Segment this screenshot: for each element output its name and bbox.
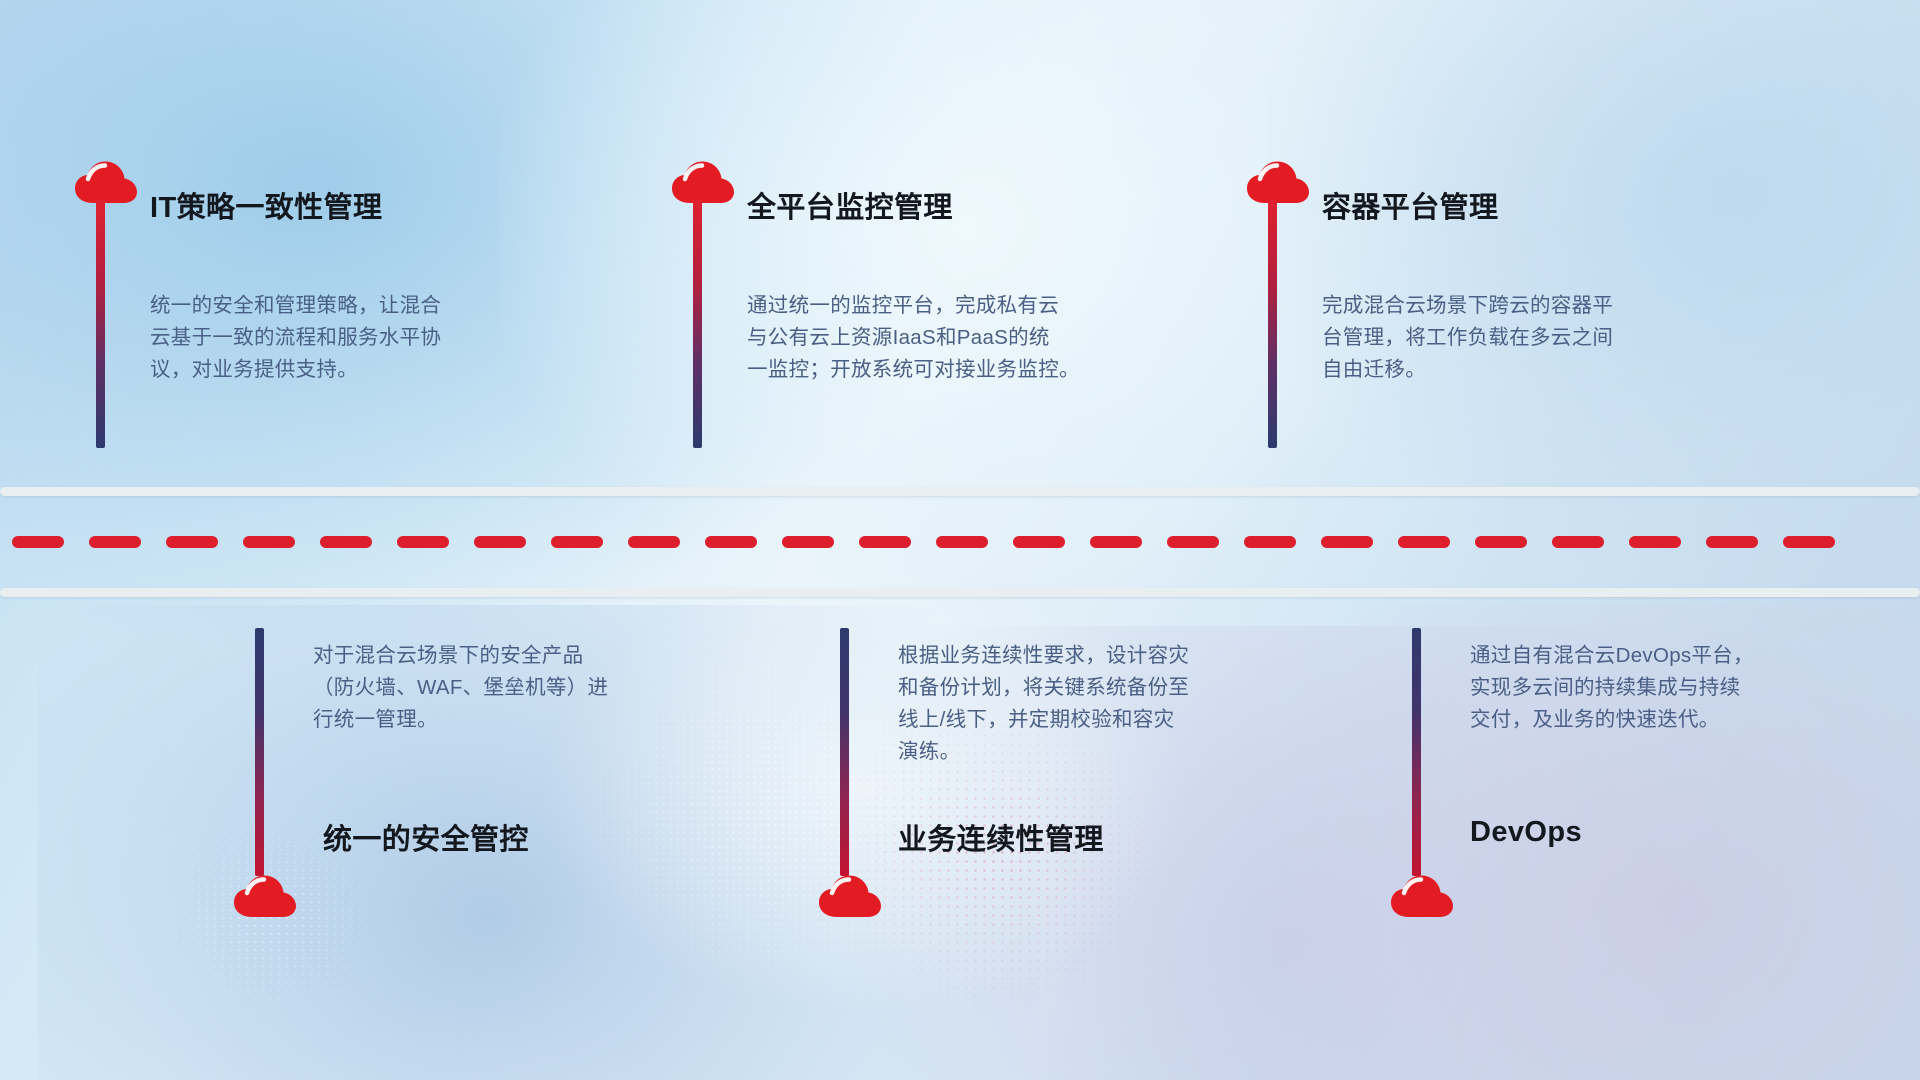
road-dash-segment xyxy=(1783,536,1835,548)
cloud-pin-unified-security-control xyxy=(232,874,294,918)
stem-container-platform-management xyxy=(1268,200,1277,448)
road-dash-segment xyxy=(936,536,988,548)
cloud-pin-devops xyxy=(1389,874,1451,918)
card-body: 根据业务连续性要求，设计容灾 和备份计划，将关键系统备份至 线上/线下，并定期校… xyxy=(898,640,1308,768)
card-title: IT策略一致性管理 xyxy=(150,184,382,226)
road-dash-segment xyxy=(1475,536,1527,548)
road-line-top xyxy=(0,487,1920,496)
card-body: 统一的安全和管理策略，让混合 云基于一致的流程和服务水平协 议，对业务提供支持。 xyxy=(150,290,570,386)
road-dash-segment xyxy=(1706,536,1758,548)
card-title: 全平台监控管理 xyxy=(747,184,953,226)
road-divider xyxy=(0,487,1920,597)
cloud-pin-icon xyxy=(670,160,736,204)
card-title: 容器平台管理 xyxy=(1322,184,1498,226)
road-dash-segment xyxy=(551,536,603,548)
road-dash-segment xyxy=(1398,536,1450,548)
cloud-pin-icon xyxy=(1245,160,1311,204)
card-body: 通过自有混合云DevOps平台， 实现多云间的持续集成与持续 交付，及业务的快速… xyxy=(1470,640,1870,736)
cloud-pin-icon xyxy=(1389,874,1455,918)
road-dash-segment xyxy=(628,536,680,548)
cloud-pin-icon xyxy=(73,160,139,204)
road-dash-segment xyxy=(705,536,757,548)
cloud-pin-icon xyxy=(817,874,883,918)
cloud-pin-full-platform-monitoring xyxy=(670,160,732,204)
stem-devops xyxy=(1412,628,1421,876)
road-dash-segment xyxy=(1244,536,1296,548)
road-dash-segment xyxy=(782,536,834,548)
road-dash-segment xyxy=(1167,536,1219,548)
road-dash-segment xyxy=(243,536,295,548)
cloud-pin-icon xyxy=(232,874,298,918)
road-dash-segment xyxy=(474,536,526,548)
road-dash-segment xyxy=(1090,536,1142,548)
road-dash-segment xyxy=(320,536,372,548)
road-dash-segment xyxy=(1013,536,1065,548)
road-dash-segment xyxy=(859,536,911,548)
card-body: 完成混合云场景下跨云的容器平 台管理，将工作负载在多云之间 自由迁移。 xyxy=(1322,290,1742,386)
card-title: 业务连续性管理 xyxy=(898,816,1104,858)
road-center-dashes xyxy=(0,536,1920,548)
cloud-pin-business-continuity-management xyxy=(817,874,879,918)
stem-it-policy-consistency xyxy=(96,200,105,448)
road-dash-segment xyxy=(397,536,449,548)
stem-unified-security-control xyxy=(255,628,264,876)
road-line-bottom xyxy=(0,588,1920,597)
card-body: 通过统一的监控平台，完成私有云 与公有云上资源IaaS和PaaS的统 一监控；开… xyxy=(747,290,1187,386)
card-title: DevOps xyxy=(1470,816,1582,849)
card-title: 统一的安全管控 xyxy=(323,816,529,858)
road-dash-segment xyxy=(1321,536,1373,548)
card-body: 对于混合云场景下的安全产品 （防火墙、WAF、堡垒机等）进 行统一管理。 xyxy=(313,640,723,736)
road-dash-segment xyxy=(89,536,141,548)
road-dash-segment xyxy=(12,536,64,548)
road-dash-segment xyxy=(1552,536,1604,548)
stem-business-continuity-management xyxy=(840,628,849,876)
stem-full-platform-monitoring xyxy=(693,200,702,448)
road-dash-segment xyxy=(1629,536,1681,548)
road-dash-segment xyxy=(166,536,218,548)
cloud-pin-it-policy-consistency xyxy=(73,160,135,204)
cloud-pin-container-platform-management xyxy=(1245,160,1307,204)
